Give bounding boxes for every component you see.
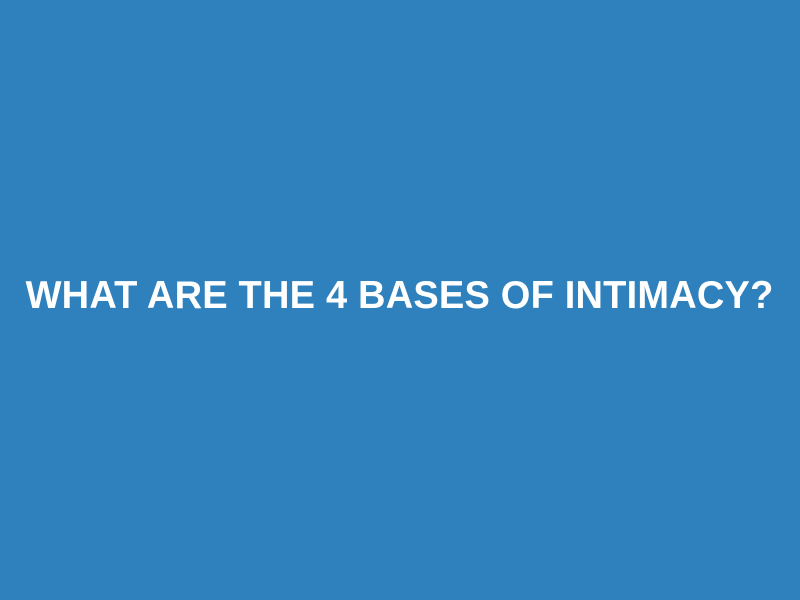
page-title: WHAT ARE THE 4 BASES OF INTIMACY? [26,274,774,318]
title-card: WHAT ARE THE 4 BASES OF INTIMACY? [0,0,800,600]
headline-container: WHAT ARE THE 4 BASES OF INTIMACY? [0,274,800,318]
